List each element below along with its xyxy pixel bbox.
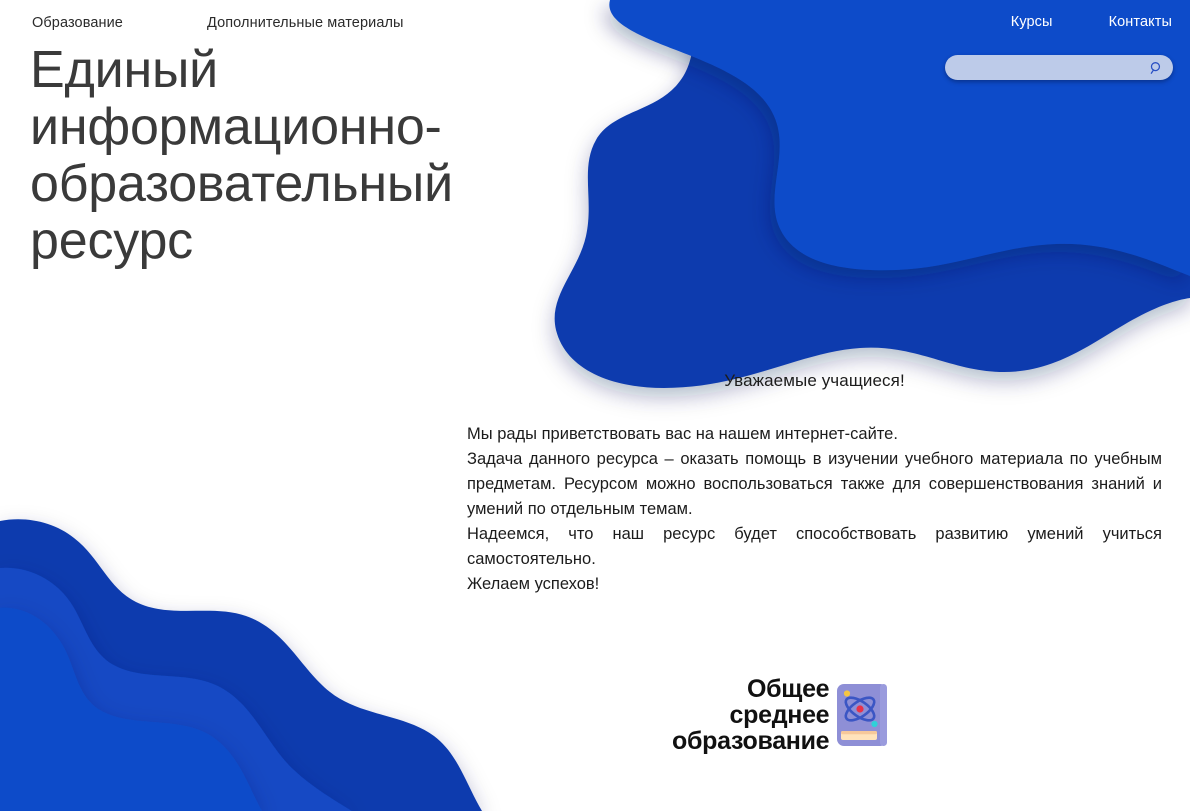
logo-text-line-3: образование: [672, 728, 829, 754]
nav-link-dopolnitelnye-materialy[interactable]: Дополнительные материалы: [207, 15, 404, 31]
nav-link-kursy[interactable]: Курсы: [1011, 14, 1053, 30]
search-container: [945, 55, 1173, 80]
search-box[interactable]: [945, 55, 1173, 80]
paragraph-1: Мы рады приветствовать вас на нашем инте…: [467, 422, 1162, 447]
page-title: Единый информационно-образовательный рес…: [30, 42, 590, 270]
paragraph-3: Надеемся, что наш ресурс будет способств…: [467, 522, 1162, 572]
welcome-message-block: Уважаемые учащиеся! Мы рады приветствова…: [467, 371, 1162, 597]
nav-link-obrazovanie[interactable]: Образование: [32, 15, 123, 31]
book-atom-icon: [836, 683, 888, 747]
primary-navigation-left: Образование Дополнительные материалы: [32, 15, 404, 31]
salutation-text: Уважаемые учащиеся!: [467, 371, 1162, 391]
paragraph-2: Задача данного ресурса – оказать помощь …: [467, 447, 1162, 522]
paragraph-4: Желаем успехов!: [467, 572, 1162, 597]
search-input[interactable]: [945, 55, 1173, 80]
primary-navigation-right: Курсы Контакты: [1011, 14, 1172, 30]
welcome-paragraphs: Мы рады приветствовать вас на нашем инте…: [467, 422, 1162, 597]
search-icon[interactable]: [1149, 60, 1164, 75]
logo[interactable]: Общее среднее образование: [672, 676, 888, 754]
logo-text: Общее среднее образование: [672, 676, 829, 754]
nav-link-kontakty[interactable]: Контакты: [1109, 14, 1172, 30]
logo-text-line-2: среднее: [672, 702, 829, 728]
page-root: Образование Дополнительные материалы Кур…: [0, 0, 1190, 811]
logo-text-line-1: Общее: [672, 676, 829, 702]
